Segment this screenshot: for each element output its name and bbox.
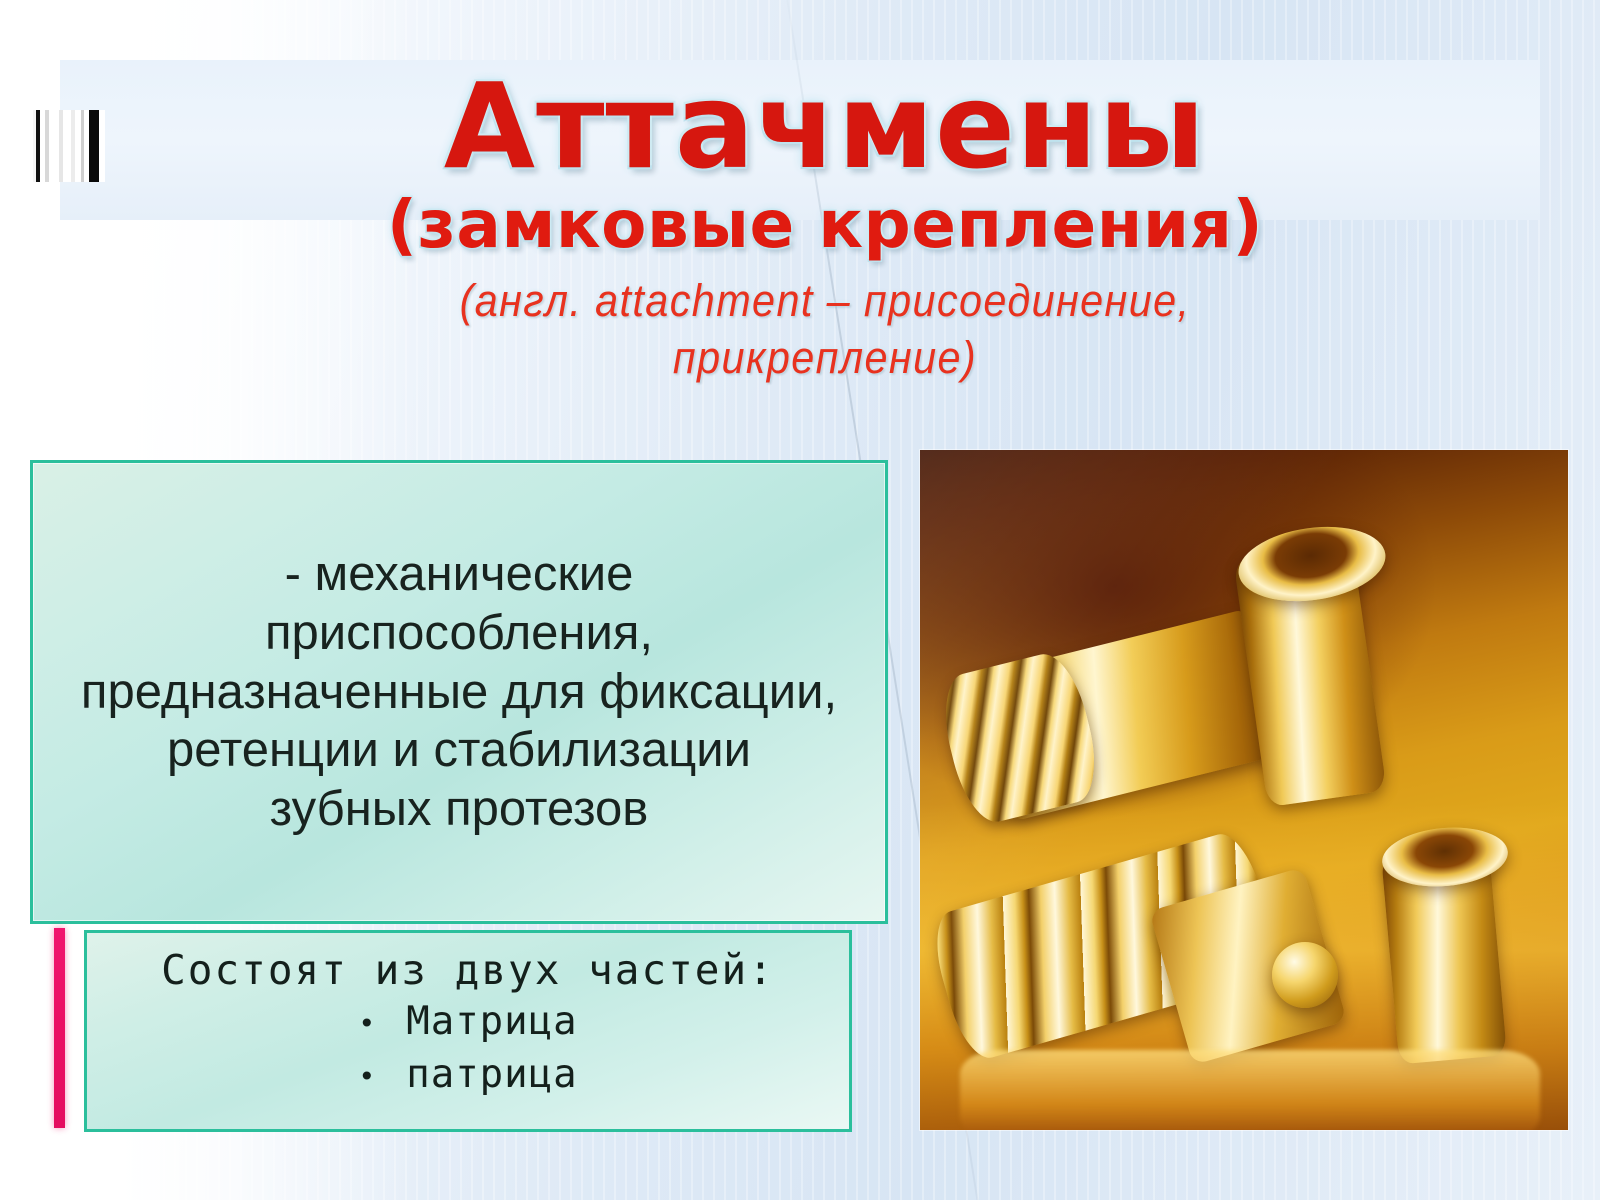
parts-box: Состоят из двух частей: •Матрица •патриц… xyxy=(84,930,852,1132)
photo-foreground-blur xyxy=(960,1050,1540,1130)
bullet-icon: • xyxy=(358,1006,376,1041)
accent-bar xyxy=(54,928,65,1128)
page-title: Аттачмены xyxy=(330,66,1320,186)
barcode-icon xyxy=(33,110,105,182)
patrix-lower-knob xyxy=(1272,942,1338,1008)
list-item-label: патрица xyxy=(406,1052,577,1097)
slide-canvas: Аттачмены (замковые крепления) (англ. at… xyxy=(0,0,1600,1200)
page-subtitle: (замковые крепления) xyxy=(330,190,1320,259)
list-item: •патрица xyxy=(87,1051,849,1100)
list-item: •Матрица xyxy=(87,998,849,1047)
barcode-stripes xyxy=(33,110,105,182)
definition-box: - механические приспособления, предназна… xyxy=(30,460,888,924)
attachment-photo xyxy=(920,450,1568,1130)
list-item-label: Матрица xyxy=(406,999,577,1044)
definition-text: - механические приспособления, предназна… xyxy=(33,545,885,839)
bullet-icon: • xyxy=(358,1059,376,1094)
title-block: Аттачмены (замковые крепления) (англ. at… xyxy=(330,66,1320,387)
parts-heading: Состоят из двух частей: xyxy=(87,947,849,994)
title-translation: (англ. attachment – присоединение, прикр… xyxy=(370,272,1281,387)
